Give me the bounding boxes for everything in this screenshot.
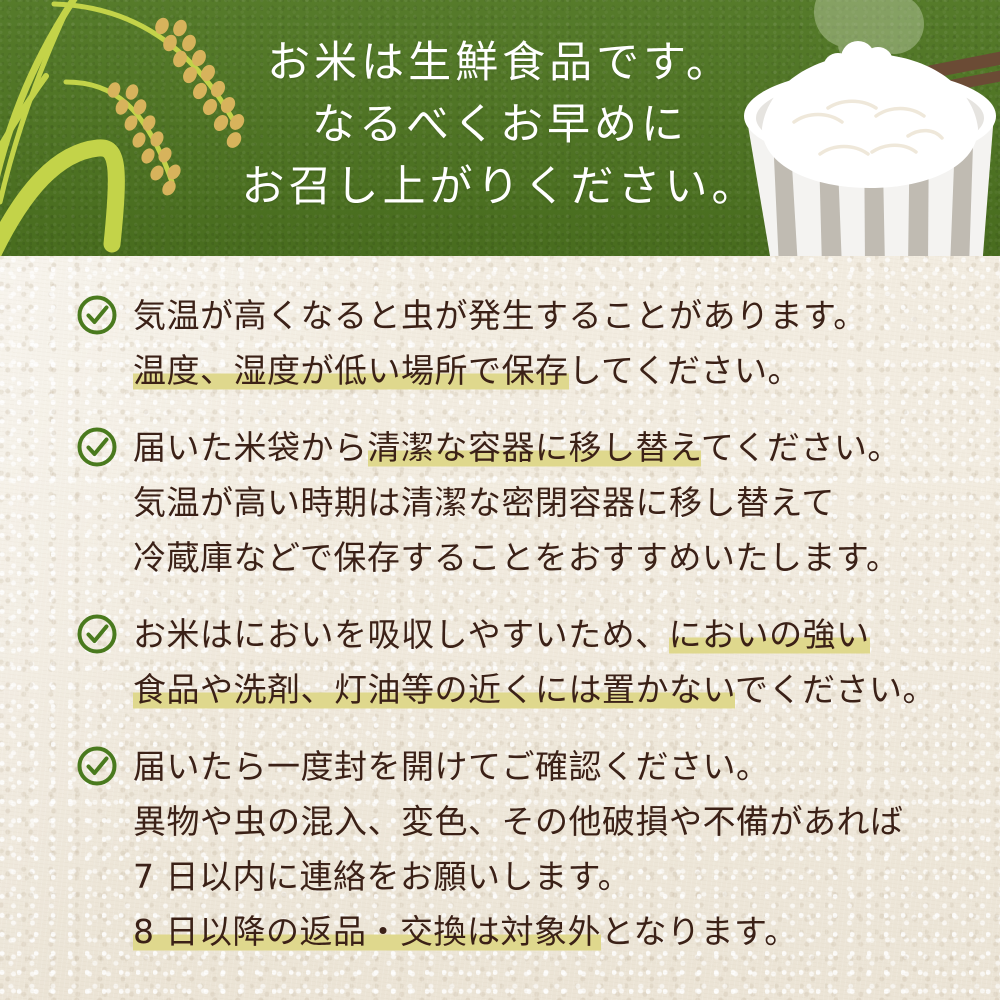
highlighted-text: 食品や洗剤、灯油等の近くには置かない (133, 670, 735, 709)
notice-text: お米はにおいを吸収しやすいため、 (133, 615, 669, 654)
check-circle-icon (76, 294, 118, 336)
notice-text: 届いたら一度封を開けてご確認ください。 (133, 747, 770, 786)
notice-item: お米はにおいを吸収しやすいため、においの強い食品や洗剤、灯油等の近くには置かない… (0, 607, 1000, 717)
title-line-2: なるべくお早めに (0, 94, 1000, 156)
check-circle-icon (76, 745, 118, 787)
highlighted-text: においの強い (669, 615, 870, 654)
notice-line: 届いた米袋から清潔な容器に移し替えてください。 (133, 420, 1000, 475)
notice-line: お米はにおいを吸収しやすいため、においの強い (133, 607, 1000, 662)
highlighted-text: 清潔な容器に移し替え (368, 428, 701, 467)
notice-text: 気温が高くなると虫が発生することがあります。 (133, 296, 867, 335)
notice-text: 冷蔵庫などで保存することをおすすめいたします。 (133, 538, 900, 577)
notice-line: 8 日以降の返品・交換は対象外となります。 (133, 904, 1000, 959)
title-line-1: お米は生鮮食品です。 (0, 32, 1000, 94)
notice-text: 異物や虫の混入、変色、その他破損や不備があれば (133, 802, 904, 841)
notice-line: 7 日以内に連絡をお願いします。 (133, 849, 1000, 904)
notice-line: 届いたら一度封を開けてご確認ください。 (133, 739, 1000, 794)
header-banner: お米は生鮮食品です。 なるべくお早めに お召し上がりください。 (0, 0, 1000, 256)
notice-item: 届いたら一度封を開けてご確認ください。異物や虫の混入、変色、その他破損や不備があ… (0, 739, 1000, 959)
notice-item: 気温が高くなると虫が発生することがあります。温度、湿度が低い場所で保存してくださ… (0, 288, 1000, 398)
notice-list: 気温が高くなると虫が発生することがあります。温度、湿度が低い場所で保存してくださ… (0, 288, 1000, 959)
check-circle-icon (76, 613, 118, 655)
notice-text: でください。 (735, 670, 936, 709)
notice-text: 7 日以内に連絡をお願いします。 (133, 857, 631, 896)
poster-title: お米は生鮮食品です。 なるべくお早めに お召し上がりください。 (0, 32, 1000, 218)
highlighted-text: 8 日以降の返品・交換は対象外 (133, 912, 601, 951)
check-circle-icon (76, 745, 118, 787)
check-circle-icon (76, 426, 118, 468)
notice-text: してください。 (569, 351, 802, 390)
check-circle-icon (76, 426, 118, 468)
notice-line: 異物や虫の混入、変色、その他破損や不備があれば (133, 794, 1000, 849)
notice-line: 温度、湿度が低い場所で保存してください。 (133, 343, 1000, 398)
check-circle-icon (76, 294, 118, 336)
rice-storage-notice-poster: お米は生鮮食品です。 なるべくお早めに お召し上がりください。 気温が高くなると… (0, 0, 1000, 1000)
notice-line: 冷蔵庫などで保存することをおすすめいたします。 (133, 530, 1000, 585)
notice-line: 食品や洗剤、灯油等の近くには置かないでください。 (133, 662, 1000, 717)
highlighted-text: 温度、湿度が低い場所で保存 (133, 351, 569, 390)
check-circle-icon (76, 613, 118, 655)
notice-text: 届いた米袋から (133, 428, 368, 467)
notice-line: 気温が高い時期は清潔な密閉容器に移し替えて (133, 475, 1000, 530)
title-line-3: お召し上がりください。 (0, 156, 1000, 218)
notice-line: 気温が高くなると虫が発生することがあります。 (133, 288, 1000, 343)
notice-text: てください。 (701, 428, 901, 467)
notice-text: 気温が高い時期は清潔な密閉容器に移し替えて (133, 483, 835, 522)
notice-item: 届いた米袋から清潔な容器に移し替えてください。気温が高い時期は清潔な密閉容器に移… (0, 420, 1000, 585)
notice-text: となります。 (601, 912, 798, 951)
